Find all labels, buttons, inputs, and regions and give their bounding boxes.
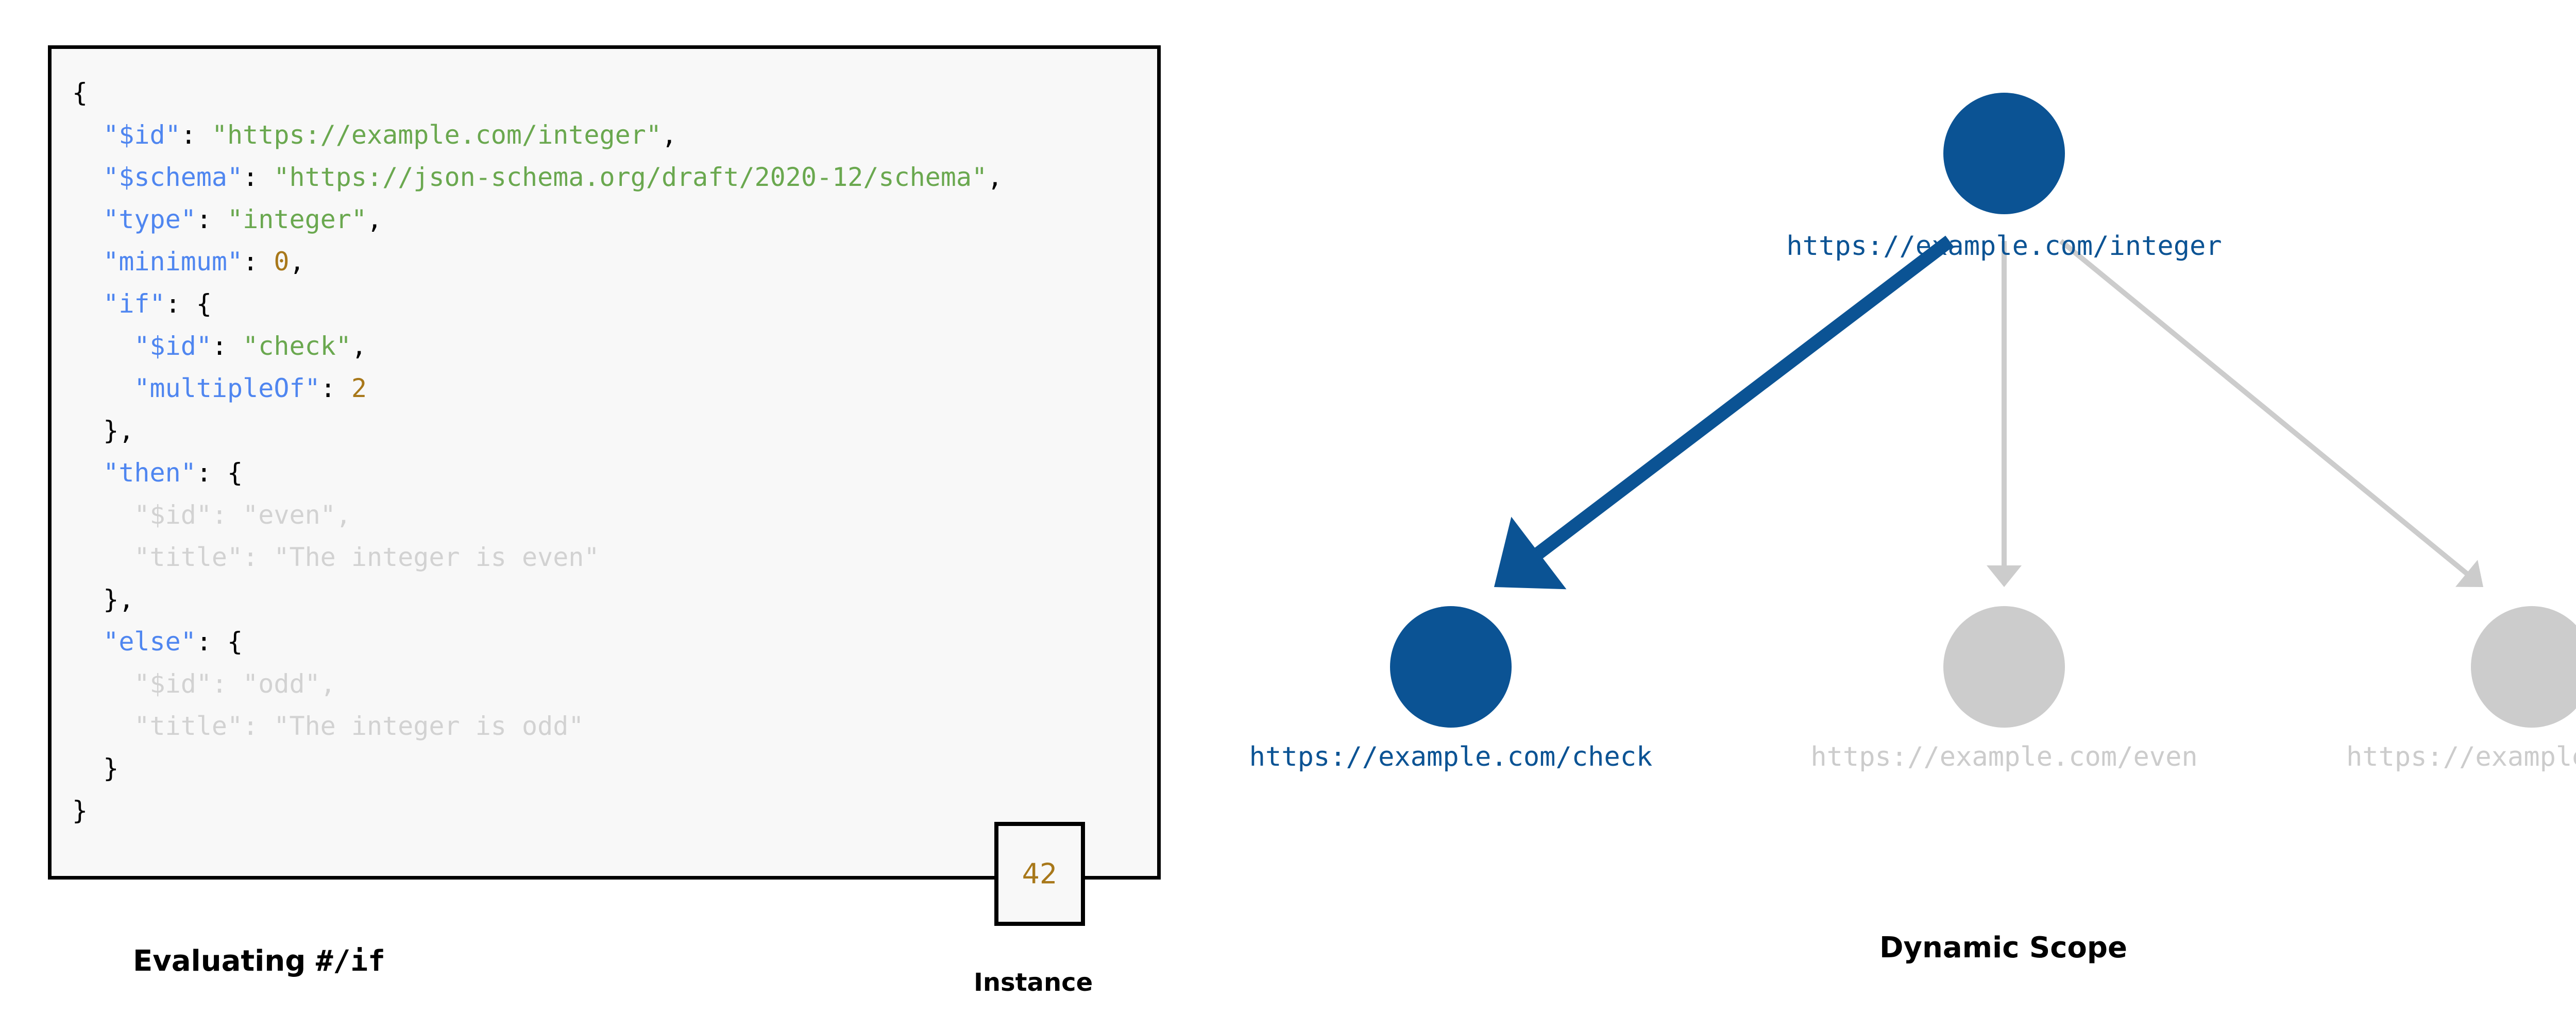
code-line: "$id": "https://example.com/integer", (72, 120, 677, 150)
code-token: "$schema" (103, 162, 243, 192)
code-token: : (243, 711, 274, 741)
code-line: "type": "integer", (72, 204, 382, 234)
graph-node-label-check: https://example.com/check (1249, 742, 1653, 772)
code-token: "https://example.com/integer" (212, 120, 662, 150)
code-token: : { (165, 289, 212, 319)
code-token: "title" (134, 711, 243, 741)
code-line: "if": { (72, 289, 212, 319)
evaluating-caption-pointer: #/if (316, 944, 385, 978)
code-token: : (212, 669, 243, 699)
code-token: "$id" (134, 669, 212, 699)
graph-edge-arrowhead (1987, 565, 2022, 587)
code-token: 2 (351, 373, 367, 403)
code-token: "even" (243, 500, 336, 530)
code-token: "integer" (227, 204, 367, 234)
code-token: : { (196, 458, 243, 488)
code-token: 0 (274, 247, 289, 277)
code-token: , (987, 162, 1003, 192)
code-token: "else" (103, 627, 196, 657)
code-line: "multipleOf": 2 (72, 373, 367, 403)
graph-edge-arrowhead (2455, 560, 2483, 587)
code-token: "$id" (134, 500, 212, 530)
code-token: "$id" (134, 331, 212, 361)
code-line: } (72, 753, 118, 783)
graph-edge-line (2061, 241, 2469, 575)
code-token: , (336, 500, 351, 530)
graph-node-integer[interactable] (1943, 93, 2065, 214)
graph-node-label-even: https://example.com/even (1810, 742, 2197, 772)
code-line: "$schema": "https://json-schema.org/draf… (72, 162, 1003, 192)
instance-value: 42 (998, 858, 1081, 890)
code-token: "type" (103, 204, 196, 234)
instance-caption: Instance (974, 968, 1093, 997)
code-token: : { (196, 627, 243, 657)
graph-edge-arrowhead (1494, 517, 1566, 590)
code-token: "minimum" (103, 247, 243, 277)
code-token: "The integer is odd" (274, 711, 584, 741)
code-token: "odd" (243, 669, 320, 699)
evaluating-caption-prefix: Evaluating (133, 944, 316, 978)
code-line: "then": { (72, 458, 243, 488)
code-token: } (103, 753, 118, 783)
json-schema-panel: { "$id": "https://example.com/integer", … (48, 45, 1161, 880)
code-line: { (72, 78, 88, 108)
code-line: "$id": "even", (72, 500, 351, 530)
code-token: : (320, 373, 351, 403)
code-token: , (662, 120, 677, 150)
code-line: "$id": "check", (72, 331, 367, 361)
json-schema-code: { "$id": "https://example.com/integer", … (72, 72, 1003, 832)
code-token: , (320, 669, 336, 699)
graph-node-check[interactable] (1390, 606, 1512, 728)
code-token: "multipleOf" (134, 373, 320, 403)
code-token: "check" (243, 331, 351, 361)
graph-edge-line (1533, 241, 1950, 558)
code-token: : (212, 331, 243, 361)
code-token: : (243, 542, 274, 572)
code-line: "$id": "odd", (72, 669, 336, 699)
code-line: } (72, 796, 88, 825)
code-line: "title": "The integer is odd" (72, 711, 584, 741)
code-line: "title": "The integer is even" (72, 542, 600, 572)
code-token: "$id" (103, 120, 181, 150)
code-token: "then" (103, 458, 196, 488)
code-token: , (367, 204, 382, 234)
graph-node-even[interactable] (1943, 606, 2065, 728)
code-token: : (196, 204, 227, 234)
code-token: }, (103, 416, 134, 445)
code-token: "if" (103, 289, 165, 319)
code-token: "The integer is even" (274, 542, 599, 572)
code-token: , (351, 331, 367, 361)
code-line: }, (72, 584, 134, 614)
evaluating-caption: Evaluating #/if (133, 944, 385, 978)
code-token: "title" (134, 542, 243, 572)
code-token: : (243, 162, 274, 192)
code-token: "https://json-schema.org/draft/2020-12/s… (274, 162, 987, 192)
graph-node-label-odd: https://example.com/odd (2346, 742, 2576, 772)
code-token: }, (103, 584, 134, 614)
code-token: : (243, 247, 274, 277)
code-token: , (289, 247, 304, 277)
code-line: "else": { (72, 627, 243, 657)
dynamic-scope-graph: https://example.com/integerhttps://examp… (1185, 0, 2576, 906)
code-token: } (72, 796, 88, 825)
graph-node-odd[interactable] (2471, 606, 2576, 728)
graph-node-label-integer: https://example.com/integer (1786, 231, 2222, 262)
code-token: : (212, 500, 243, 530)
code-token: { (72, 78, 88, 108)
code-line: "minimum": 0, (72, 247, 305, 277)
code-token: : (181, 120, 212, 150)
instance-box: 42 (994, 822, 1085, 926)
dynamic-scope-caption: Dynamic Scope (1879, 931, 2127, 965)
code-line: }, (72, 416, 134, 445)
